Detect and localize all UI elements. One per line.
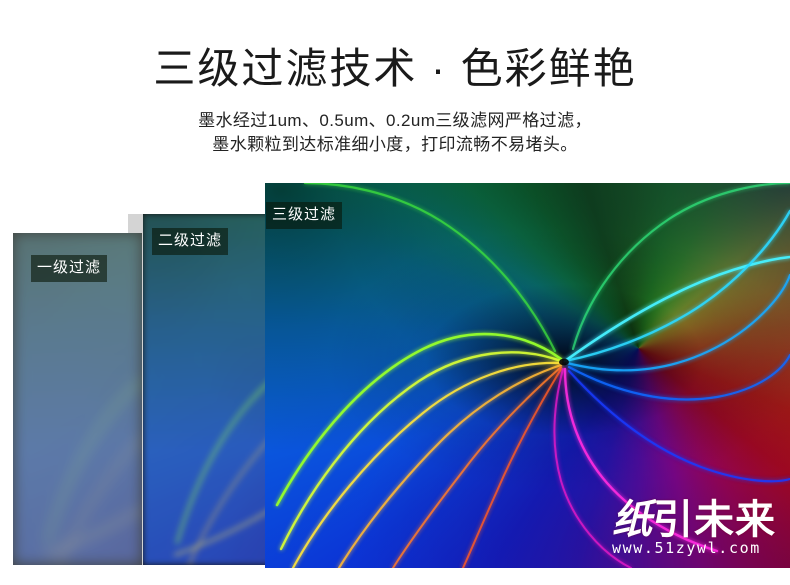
filter-stage-2-label: 二级过滤 xyxy=(152,228,228,255)
filtration-comparison xyxy=(0,0,790,585)
filter-stage-1-panel xyxy=(13,233,142,565)
rainbow-swirl-image xyxy=(143,214,273,565)
stage-2-artwork xyxy=(143,214,273,565)
ribbon-glow-layer xyxy=(143,214,273,565)
promo-banner: 三级过滤技术 · 色彩鲜艳 墨水经过1um、0.5um、0.2um三级滤网严格过… xyxy=(0,0,790,585)
filter-stage-1-label: 一级过滤 xyxy=(31,255,107,282)
stage-1-artwork xyxy=(13,233,142,565)
stage-3-artwork xyxy=(265,183,790,568)
filter-stage-3-label: 三级过滤 xyxy=(266,202,342,229)
filter-stage-3-panel xyxy=(265,183,790,568)
rainbow-swirl-image xyxy=(265,183,790,568)
filter-stage-2-panel xyxy=(143,214,273,565)
ribbon-glow-layer xyxy=(265,183,790,568)
ribbon-glow-layer xyxy=(13,233,142,565)
rainbow-swirl-image xyxy=(13,233,142,565)
